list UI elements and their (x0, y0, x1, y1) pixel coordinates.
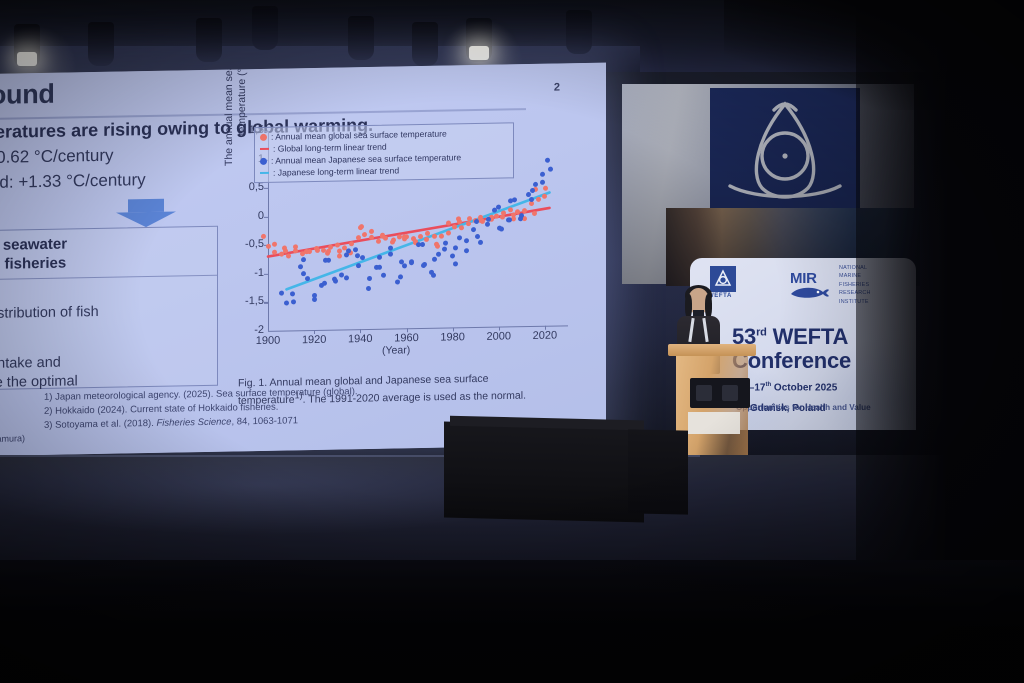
data-point (291, 299, 296, 304)
data-point (421, 263, 426, 268)
y-tick-label: -1,5 (230, 295, 264, 308)
data-point (298, 264, 303, 269)
data-point (323, 258, 328, 263)
data-point (261, 234, 266, 239)
stage-light-icon (348, 16, 374, 60)
slide-number: 2 (554, 81, 560, 93)
conference-hall-photo: ckground 2 er temperatures are rising ow… (0, 0, 1024, 683)
data-point (402, 236, 407, 241)
data-point (349, 241, 354, 246)
data-point (353, 247, 358, 252)
podium-panel-button (722, 385, 738, 401)
stage-light-icon (88, 22, 114, 66)
y-tick-label: -1 (230, 267, 264, 280)
chart-x-axis-label: (Year) (382, 344, 410, 357)
legend-marker-japanese-points (260, 157, 267, 164)
data-point (457, 219, 462, 224)
data-point (272, 241, 277, 246)
data-point (432, 234, 437, 239)
data-point (381, 272, 386, 277)
speaker-hair-right (705, 294, 712, 318)
legend-marker-global-trend (260, 148, 269, 150)
data-point (486, 217, 491, 222)
x-tick-label: 2000 (479, 330, 519, 343)
reference-item-text: 3) Sotoyama et al. (2018). (44, 417, 156, 430)
data-point (545, 157, 550, 162)
data-point (376, 238, 381, 243)
x-tick-label: 1940 (340, 333, 380, 346)
projection-screen: ckground 2 er temperatures are rising ow… (0, 63, 606, 456)
data-point (496, 204, 501, 209)
wild-fish-body: es in the distribution of fish s2) (0, 300, 257, 345)
data-point (366, 286, 371, 291)
effects-title-line1: t of rise in seawater (0, 236, 67, 256)
x-tick-mark (545, 326, 546, 330)
wild-fish-body-text: es in the distribution of fish (0, 304, 99, 323)
effects-box-divider (0, 275, 217, 281)
date-month-year: October 2025 (771, 382, 837, 393)
data-point (356, 263, 361, 268)
stage-monitor-speaker (628, 429, 688, 514)
caption-line2-post: . The 1991-2020 average is used as the n… (303, 389, 526, 405)
data-point (425, 231, 430, 236)
data-point (533, 182, 538, 187)
reference-journal: Fisheries Science (156, 416, 231, 428)
data-point (497, 225, 502, 230)
stage-light-icon (252, 6, 278, 50)
data-point (266, 244, 271, 249)
caption-line2-pre: temperature (238, 393, 295, 406)
data-point (435, 243, 440, 248)
data-point (344, 275, 349, 280)
stage-light-icon (412, 22, 438, 66)
x-tick-mark (407, 328, 408, 332)
podium-panel-button (696, 385, 712, 401)
data-point (388, 245, 393, 250)
x-tick-label: 1980 (433, 331, 473, 344)
legend-marker-global-points (260, 133, 267, 140)
presentation-slide: ckground 2 er temperatures are rising ow… (0, 63, 606, 456)
podium-name-card (688, 412, 740, 434)
data-point (360, 255, 365, 260)
data-point (301, 257, 306, 262)
data-point (466, 221, 471, 226)
data-point (446, 221, 451, 226)
x-tick-mark (453, 327, 454, 331)
conference-ordinal: rd (756, 327, 767, 339)
conference-tagline: Opportunities for Health and Value (736, 403, 871, 412)
x-tick-mark (314, 330, 315, 334)
dark-upper-right-corner (724, 0, 1024, 110)
x-tick-label: 1960 (387, 332, 427, 345)
data-point (418, 234, 423, 239)
slide-footer-note: a2025 (Nakamura) (0, 433, 25, 444)
data-point (540, 171, 545, 176)
stage-light-icon (196, 18, 222, 62)
x-tick-label: 1920 (294, 334, 334, 347)
x-tick-label: 1900 (248, 334, 288, 347)
podium-control-panel (690, 378, 750, 408)
data-point (359, 224, 364, 229)
data-point (305, 276, 310, 281)
conference-org: WEFTA (767, 324, 848, 349)
data-point (439, 234, 444, 239)
japanese-trend-text: ese trend: +1.33 °C/century (0, 170, 146, 194)
legend-marker-japanese-trend (260, 172, 269, 174)
data-point (494, 213, 499, 218)
data-point (424, 237, 429, 242)
data-point (467, 216, 472, 221)
data-point (315, 248, 320, 253)
data-point (464, 248, 469, 253)
podium-top (668, 344, 756, 356)
slide-title: ckground (0, 79, 55, 112)
data-point (453, 261, 458, 266)
effects-box-title: t of rise in seawater ratures on fisheri… (0, 232, 257, 276)
stage-monitor-speaker (444, 422, 644, 523)
effects-title-line2: ratures on fisheries (0, 254, 66, 274)
data-point (485, 221, 490, 226)
caption-line1: Fig. 1. Annual mean global and Japanese … (238, 373, 488, 390)
data-point (529, 197, 534, 202)
stage-light-icon (566, 10, 592, 54)
down-arrow-icon (116, 199, 176, 226)
x-tick-mark (360, 329, 361, 333)
y-tick-label: 0 (230, 210, 264, 223)
dark-foreground (0, 560, 1024, 683)
data-point (500, 214, 505, 219)
farmed-body-line2: rates above the optimal (0, 373, 78, 392)
global-trend-text: trend: +0.62 °C/century (0, 146, 113, 169)
data-point (540, 179, 545, 184)
wefta-badge-icon (713, 268, 733, 290)
figure-1: The annual mean sea surface temperature … (232, 119, 600, 446)
data-point (446, 230, 451, 235)
y-tick-label: -0,5 (230, 238, 264, 251)
data-point (431, 272, 436, 277)
x-tick-label: 2020 (525, 329, 565, 342)
data-point (536, 196, 541, 201)
data-point (530, 188, 535, 193)
data-point (356, 235, 361, 240)
x-tick-mark (499, 327, 500, 331)
legend-label: : Japanese long-term linear trend (273, 165, 399, 179)
data-point (475, 233, 480, 238)
speaker-hair-left (685, 294, 692, 318)
data-point (290, 291, 295, 296)
mir-mark-icon: MIR (790, 270, 834, 300)
caption-superscript: 1) (295, 390, 303, 400)
data-point (377, 255, 382, 260)
data-point (432, 257, 437, 262)
mir-fish-icon (790, 285, 830, 299)
data-point (335, 242, 340, 247)
farmed-body-line1: es in feed intake and (0, 355, 61, 373)
chart-legend: : Annual mean global sea surface tempera… (254, 122, 514, 183)
data-point (529, 201, 534, 206)
effects-box: t of rise in seawater ratures on fisheri… (0, 226, 218, 392)
data-point (450, 253, 455, 258)
data-point (478, 240, 483, 245)
figure-caption: Fig. 1. Annual mean global and Japanese … (238, 371, 588, 408)
data-point (395, 279, 400, 284)
